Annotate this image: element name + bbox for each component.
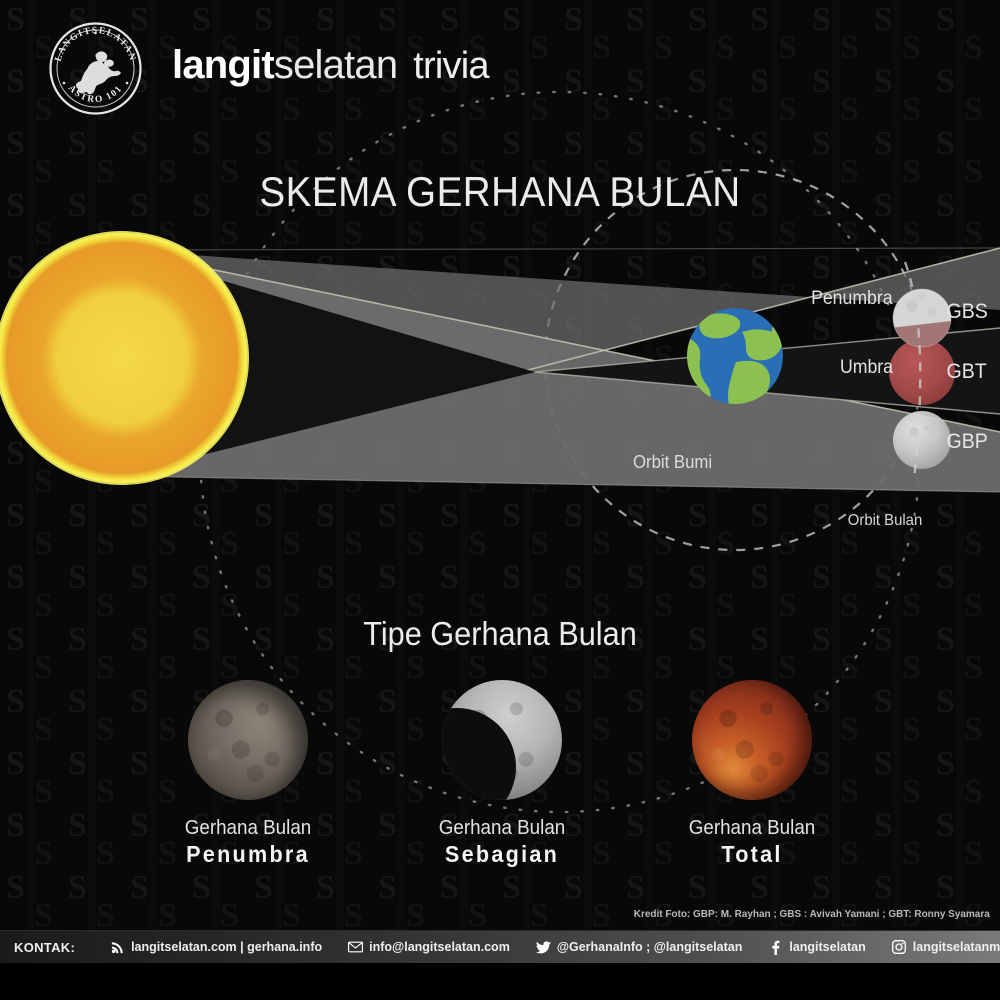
label-gbt: GBT (947, 360, 987, 384)
caption-penumbral: Gerhana Bulan Penumbra (131, 816, 366, 866)
sun-body (0, 233, 247, 483)
page-title: SKEMA GERHANA BULAN (40, 168, 960, 216)
eclipse-type-partial: Gerhana Bulan Sebagian (377, 680, 627, 866)
footer-item-twitter[interactable]: @GerhanaInfo ; @langitselatan (523, 931, 756, 963)
caption-line1: Gerhana Bulan (439, 817, 565, 839)
caption-line2: Sebagian (385, 842, 620, 866)
contact-footer: KONTAK: langitselatan.com | gerhana.info… (0, 930, 1000, 963)
footer-item-text: @GerhanaInfo ; @langitselatan (557, 940, 743, 954)
infographic-poster: S S (0, 0, 1000, 1000)
twitter-icon (536, 940, 551, 955)
eclipse-type-total: Gerhana Bulan Total (627, 680, 877, 866)
moon-gbt-diagram (889, 339, 955, 405)
eclipse-type-penumbral: Gerhana Bulan Penumbra (123, 680, 373, 866)
facebook-icon (768, 940, 783, 955)
moon-partial-photo (442, 680, 562, 800)
eclipse-types-row: Gerhana Bulan Penumbra Gerhana Bulan Seb… (0, 680, 1000, 880)
caption-partial: Gerhana Bulan Sebagian (385, 816, 620, 866)
langitselatan-logo[interactable]: LANGITSELATAN ASTRO 101 (48, 21, 143, 116)
moon-penumbral-photo (188, 680, 308, 800)
label-orbit-bulan: Orbit Bulan (848, 512, 922, 530)
svg-text:LANGITSELATAN: LANGITSELATAN (54, 26, 138, 63)
label-gbs: GBS (947, 300, 988, 324)
moon-total-photo (692, 680, 812, 800)
crater-texture (692, 680, 812, 800)
label-umbra: Umbra (840, 357, 893, 379)
footer-item-facebook[interactable]: langitselatan (755, 931, 878, 963)
moon-gbp-diagram (893, 411, 951, 469)
label-gbp: GBP (947, 430, 988, 454)
caption-line2: Total (635, 842, 870, 866)
label-penumbra: Penumbra (811, 288, 893, 310)
crater-texture (442, 680, 562, 800)
page-header: LANGITSELATAN ASTRO 101 langits (0, 0, 1000, 140)
footer-item-instagram[interactable]: langitselatanmedia (879, 931, 1000, 963)
footer-label: KONTAK: (0, 931, 97, 963)
footer-item-text: info@langitselatan.com (369, 940, 510, 954)
footer-item-website[interactable]: langitselatan.com | gerhana.info (97, 931, 335, 963)
brand-wordmark: langitselatantrivia (172, 42, 489, 89)
footer-black-strip (0, 962, 1000, 1000)
envelope-icon (348, 940, 363, 955)
brand-suffix: trivia (413, 45, 488, 87)
footer-item-text: langitselatan.com | gerhana.info (131, 940, 322, 954)
rss-icon (110, 940, 125, 955)
caption-line1: Gerhana Bulan (689, 817, 815, 839)
footer-item-text: langitselatan (789, 940, 865, 954)
instagram-icon (892, 940, 907, 955)
label-orbit-bumi: Orbit Bumi (633, 452, 712, 473)
caption-line2: Penumbra (131, 842, 366, 866)
types-section-title: Tipe Gerhana Bulan (35, 615, 965, 653)
crater-texture (188, 680, 308, 800)
footer-item-text: langitselatanmedia (913, 940, 1000, 954)
footer-item-email[interactable]: info@langitselatan.com (335, 931, 523, 963)
caption-line1: Gerhana Bulan (185, 817, 311, 839)
caption-total: Gerhana Bulan Total (635, 816, 870, 866)
brand-light: selatan (274, 43, 397, 87)
brand-bold: langit (172, 43, 274, 87)
photo-credit: Kredit Foto: GBP: M. Rayhan ; GBS : Aviv… (634, 908, 990, 920)
